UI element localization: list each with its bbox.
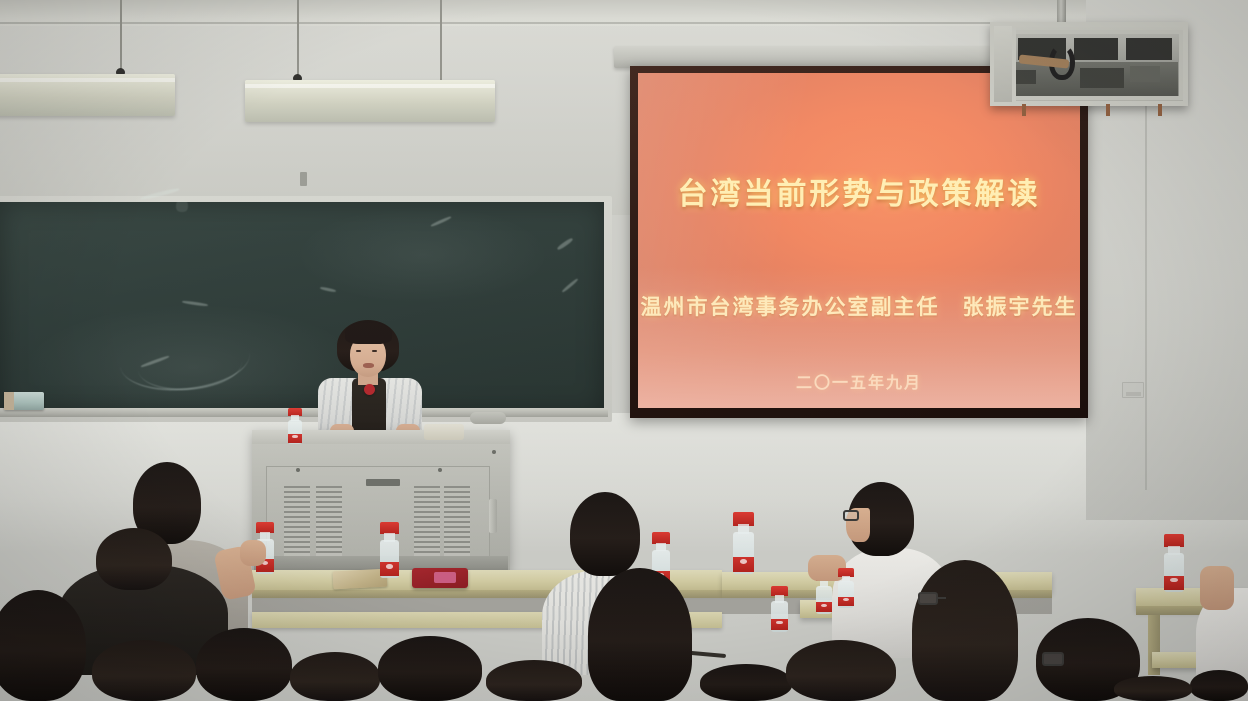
podium-vent (316, 486, 342, 558)
classroom-photo-scene: 台湾当前形势与政策解读 温州市台湾事务办公室副主任 张振宇先生 二〇一五年九月 (0, 0, 1248, 701)
water-bottle (733, 512, 754, 574)
projector-foot (1022, 104, 1026, 116)
audience-hand (240, 540, 266, 566)
audience-member-head (196, 628, 292, 701)
bottle-label (816, 602, 832, 612)
audience-member-head (700, 664, 792, 701)
bottle-label (288, 434, 302, 443)
bottle-body (816, 586, 832, 614)
wallet-tag (434, 572, 456, 583)
audience-member-head (912, 560, 1018, 701)
podium-card-slot[interactable] (366, 479, 400, 486)
red-wallet (412, 568, 468, 588)
screen-glare (638, 73, 1080, 408)
light-tube (0, 74, 175, 116)
podium-microphone-base (470, 412, 506, 424)
wall-hook (300, 172, 307, 186)
audience-member-head (92, 640, 196, 701)
podium-papers (424, 424, 464, 440)
water-bottle (838, 568, 854, 608)
wall-outlet-plate (1122, 382, 1144, 398)
slide-subtitle: 温州市台湾事务办公室副主任 张振宇先生 (638, 291, 1080, 321)
audience-member-head (96, 528, 172, 590)
bottle-body (380, 540, 399, 578)
audience-member-head (1190, 670, 1248, 701)
bottle-body (1164, 553, 1184, 592)
projector-board (1014, 70, 1036, 84)
podium-screw (296, 468, 300, 472)
bottle-body (733, 532, 754, 574)
projector-board (1130, 66, 1160, 82)
bottle-label (1164, 576, 1184, 590)
projection-screen-frame: 台湾当前形势与政策解读 温州市台湾事务办公室副主任 张振宇先生 二〇一五年九月 (630, 66, 1088, 418)
wall-seam (1145, 60, 1147, 490)
audience-member-head (290, 652, 380, 701)
slide-date: 二〇一五年九月 (638, 369, 1080, 393)
slide-title: 台湾当前形势与政策解读 (638, 169, 1080, 213)
audience-member-head (588, 568, 692, 701)
speaker-eye (372, 350, 377, 352)
glasses-icon (1042, 652, 1064, 666)
bottle-body (288, 420, 302, 444)
projector-foot (1158, 104, 1162, 116)
chalk-tray (0, 408, 608, 417)
podium-screw (492, 450, 496, 454)
light-cord (297, 0, 299, 78)
water-bottle (771, 586, 788, 632)
audience-member-head (786, 640, 896, 701)
projection-screen: 台湾当前形势与政策解读 温州市台湾事务办公室副主任 张振宇先生 二〇一五年九月 (638, 73, 1080, 408)
projector-window (1126, 38, 1172, 60)
bottle-body (771, 601, 788, 632)
projector-cage-side (990, 22, 1016, 106)
glasses-icon (843, 510, 859, 521)
podium-vent (284, 486, 310, 558)
projector-window (1074, 38, 1118, 60)
chalk-eraser (4, 392, 44, 410)
podium-door-handle[interactable] (489, 499, 497, 533)
bottle-label (733, 557, 754, 572)
podium-vent (444, 486, 470, 558)
bottle-label (771, 619, 788, 630)
water-bottle (380, 522, 399, 578)
audience-member-head (486, 660, 582, 701)
audience-arm (1200, 566, 1234, 610)
water-bottle (288, 408, 302, 444)
bottle-label (380, 562, 399, 576)
audience-member-head (0, 590, 86, 701)
podium-vent (414, 486, 440, 558)
speaker-eye (356, 350, 361, 352)
projector-board (1080, 68, 1124, 88)
audience-member-head (378, 636, 482, 701)
audience-member-head (570, 492, 640, 576)
audience-member-head (1114, 676, 1192, 701)
speaker-mouth (363, 363, 374, 368)
light-cord (120, 0, 122, 72)
speaker-fringe (345, 322, 392, 344)
speaker-red-accent (364, 384, 375, 395)
water-bottle (1164, 534, 1184, 592)
glasses-bridge (938, 597, 946, 599)
light-cord (440, 0, 442, 84)
projector-foot (1106, 104, 1110, 116)
bottle-label (838, 597, 854, 607)
glasses-icon (918, 592, 938, 605)
blackboard (0, 202, 604, 414)
light-tube (245, 80, 495, 122)
podium-screw (438, 468, 442, 472)
bottle-body (838, 581, 854, 608)
